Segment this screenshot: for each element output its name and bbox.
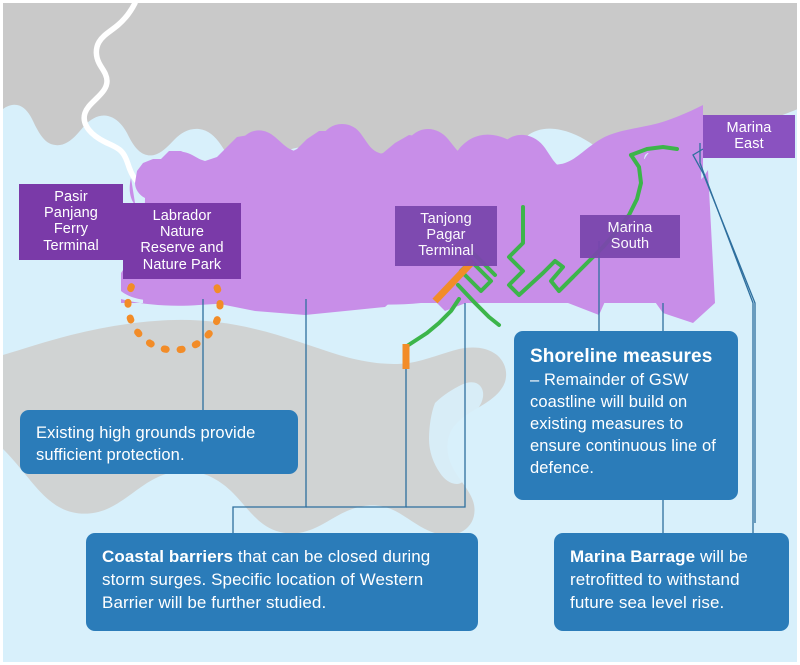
place-chip-marina-south[interactable]: Marina South xyxy=(580,215,680,258)
place-chip-pasir-panjang-ferry-terminal[interactable]: Pasir Panjang Ferry Terminal xyxy=(19,184,123,260)
callout-body-shoreline-measures: – Remainder of GSW coastline will build … xyxy=(530,371,716,477)
callout-marina-barrage[interactable]: Marina Barrage will be retrofitted to wi… xyxy=(554,533,789,631)
place-chip-labrador-nature-reserve[interactable]: Labrador Nature Reserve and Nature Park xyxy=(123,203,241,279)
coastal-protection-map: Pasir Panjang Ferry Terminal Labrador Na… xyxy=(0,0,800,665)
callout-shoreline-measures[interactable]: Shoreline measures– Remainder of GSW coa… xyxy=(514,331,738,500)
place-chip-tanjong-pagar-terminal[interactable]: Tanjong Pagar Terminal xyxy=(395,206,497,266)
place-chip-marina-east[interactable]: Marina East xyxy=(703,115,795,158)
callout-lead-shoreline-measures: Shoreline measures xyxy=(530,344,722,369)
callout-lead-coastal-barriers: Coastal barriers xyxy=(102,547,233,566)
callout-body-existing-high-grounds: Existing high grounds provide sufficient… xyxy=(36,424,255,464)
callout-existing-high-grounds[interactable]: Existing high grounds provide sufficient… xyxy=(20,410,298,474)
callout-lead-marina-barrage: Marina Barrage xyxy=(570,547,695,566)
callout-coastal-barriers[interactable]: Coastal barriers that can be closed duri… xyxy=(86,533,478,631)
